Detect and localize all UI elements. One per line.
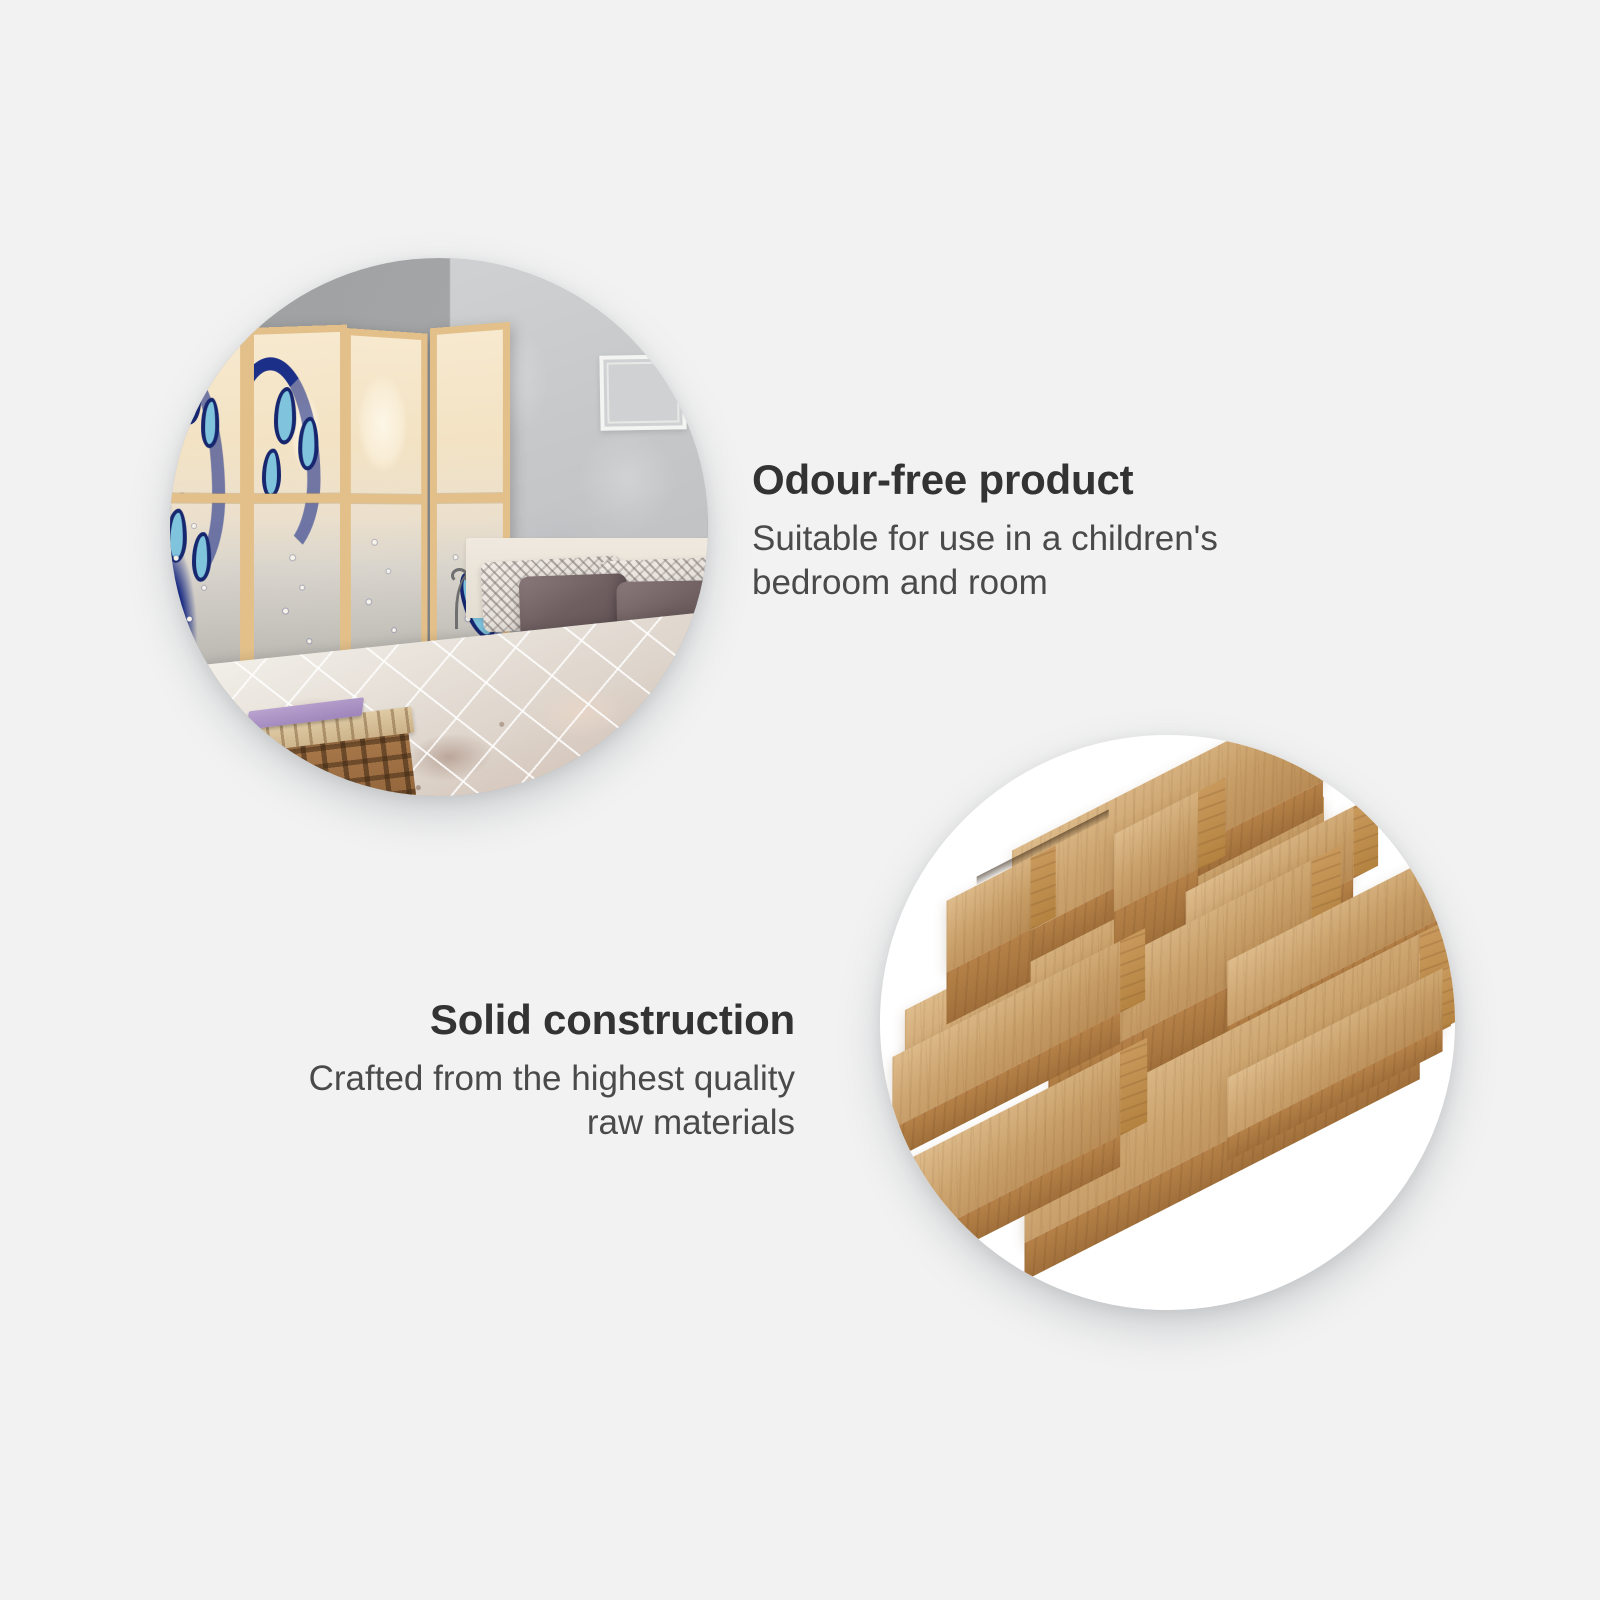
feature-description-line: raw materials	[587, 1103, 795, 1142]
wooden-bench	[249, 690, 424, 796]
timber-scene	[880, 735, 1455, 1310]
feature-description-line: bedroom and room	[752, 563, 1048, 602]
feature-image-solid-construction	[880, 735, 1455, 1310]
feature-description: Suitable for use in a children's bedroom…	[752, 517, 1372, 606]
feature-panel: Odour-free product Suitable for use in a…	[0, 0, 1600, 1600]
bedroom-scene	[170, 258, 708, 796]
feature-description-line: Suitable for use in a children's	[752, 519, 1218, 558]
feature-title: Solid construction	[200, 995, 795, 1045]
timber-stack	[880, 735, 1455, 1310]
feature-description-line: Crafted from the highest quality	[309, 1059, 795, 1098]
great-wave-print	[170, 330, 240, 719]
feature-image-odour-free	[170, 258, 708, 796]
feature-description: Crafted from the highest quality raw mat…	[200, 1057, 795, 1146]
feature-text-solid-construction: Solid construction Crafted from the high…	[200, 995, 795, 1145]
feature-text-odour-free: Odour-free product Suitable for use in a…	[752, 455, 1372, 605]
wall-picture-frame	[600, 354, 687, 431]
feature-title: Odour-free product	[752, 455, 1372, 505]
